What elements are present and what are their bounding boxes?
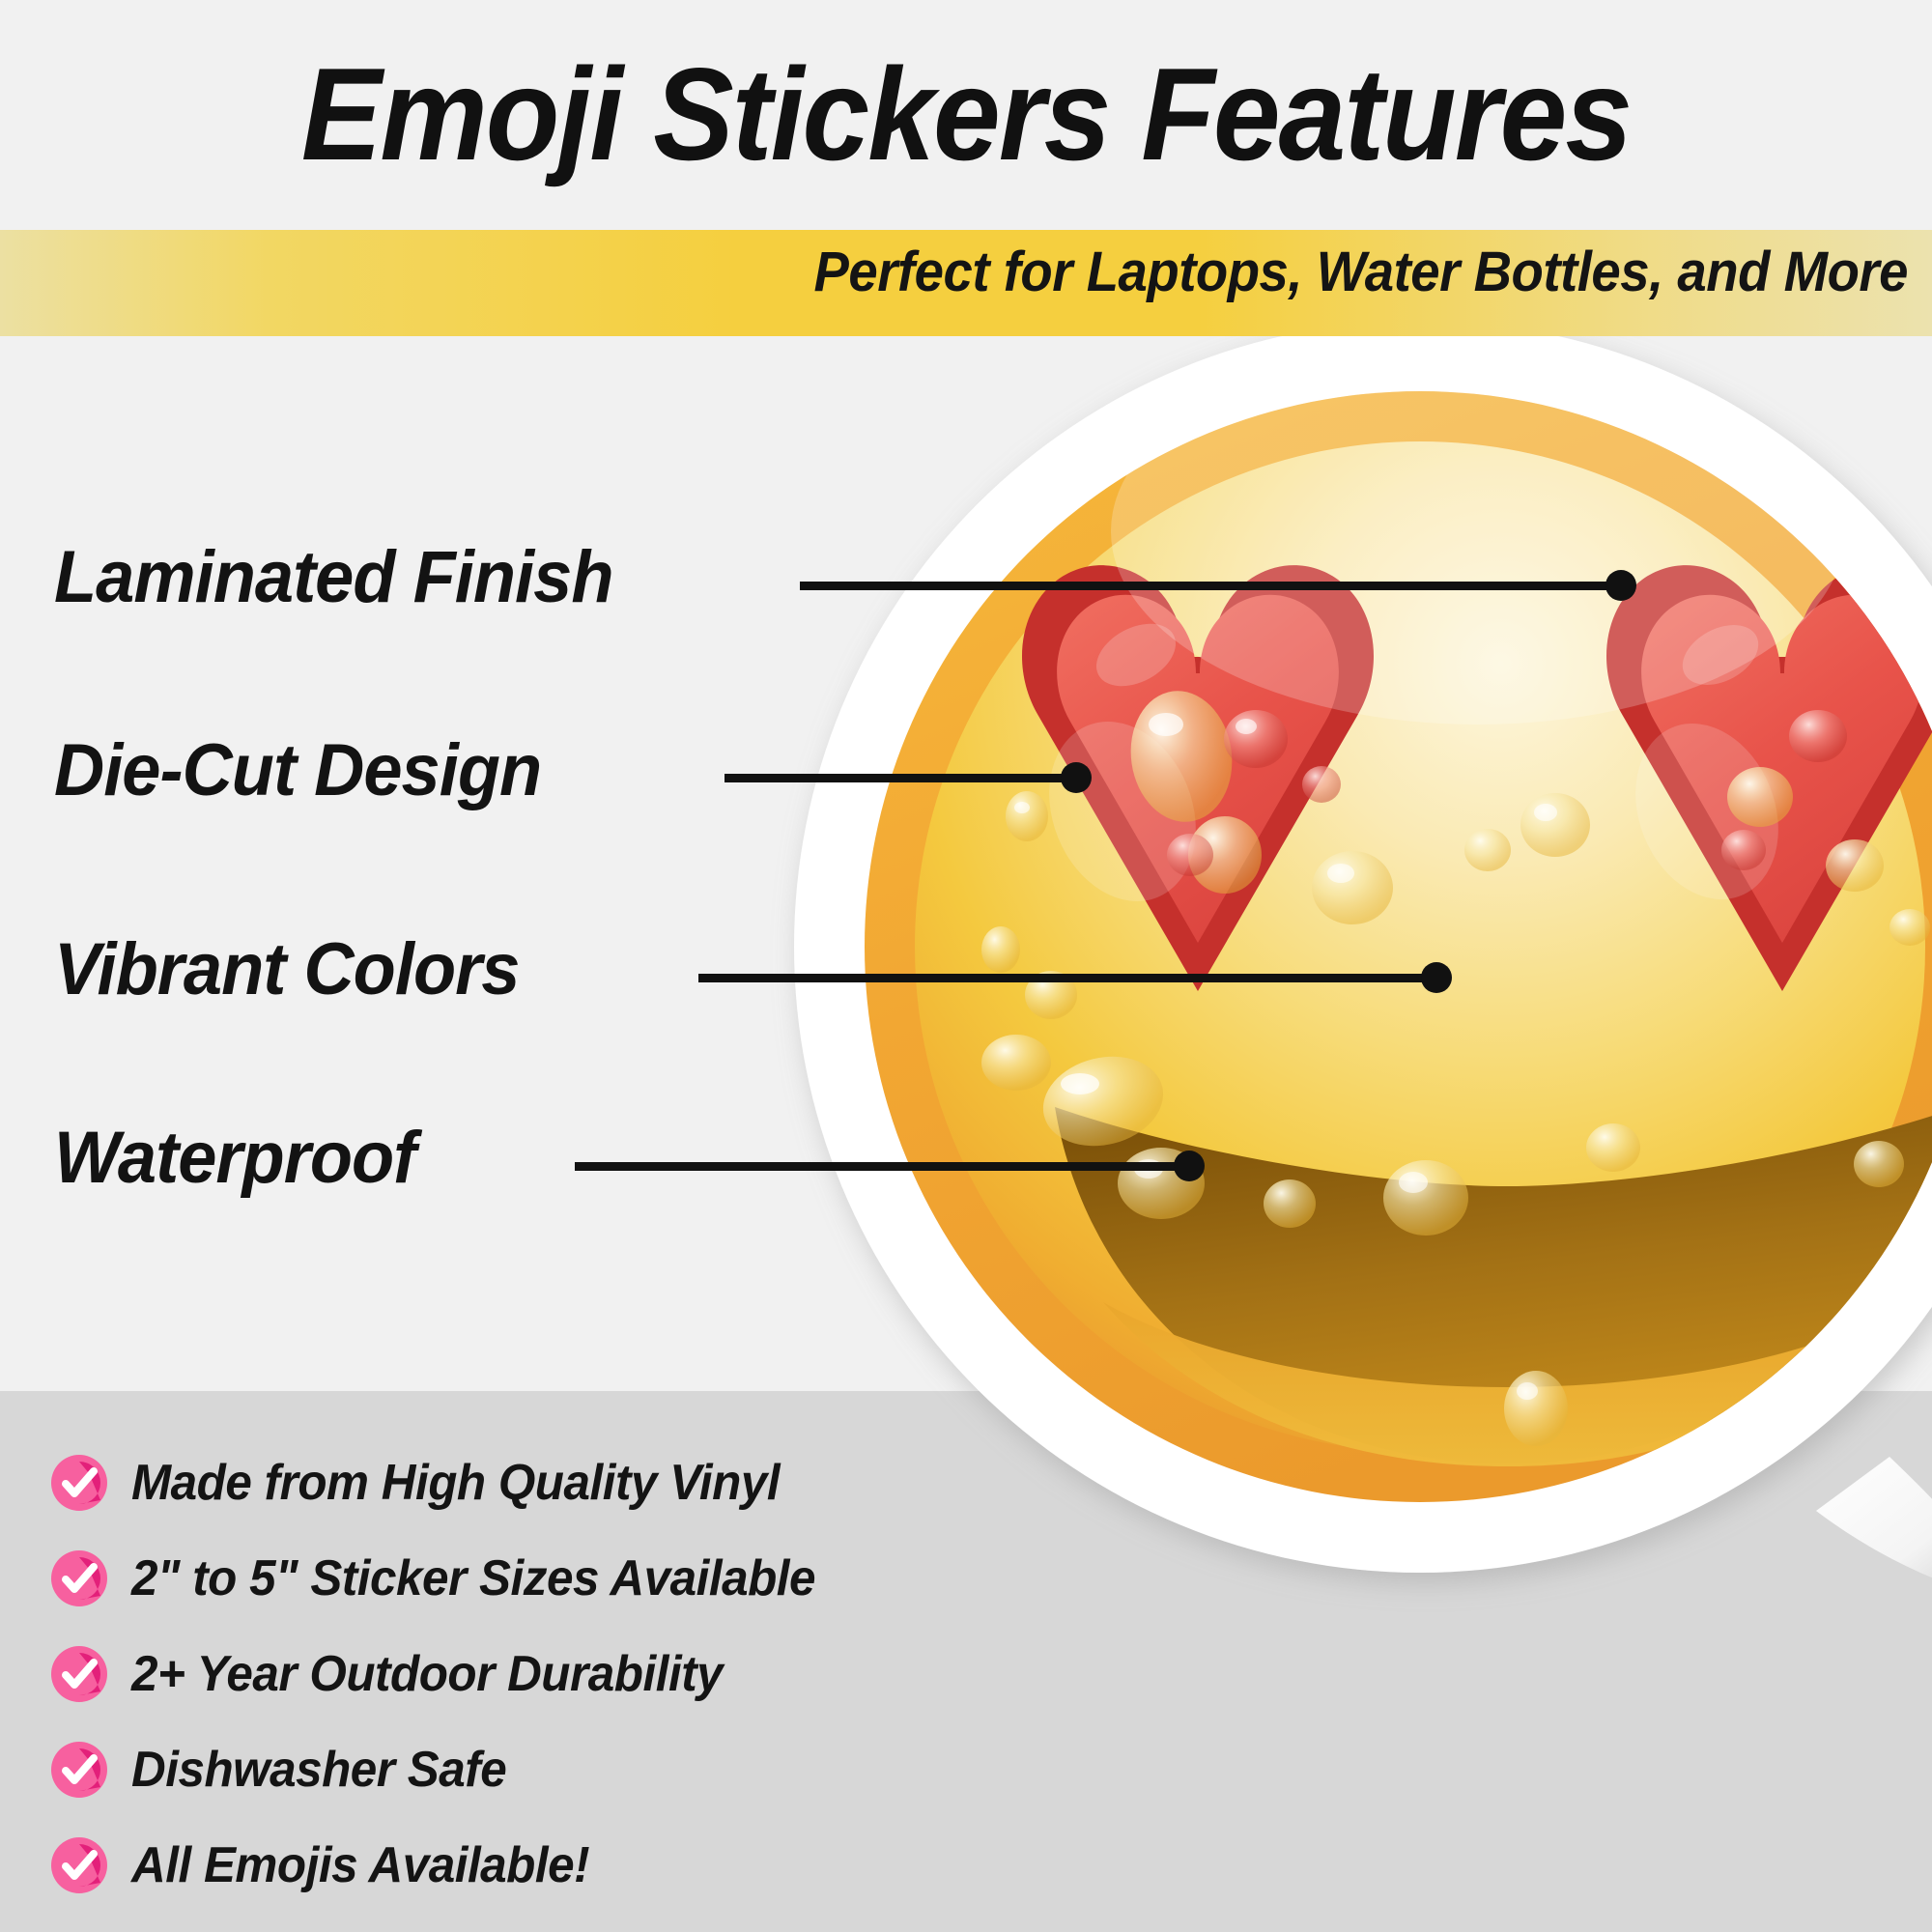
- checklist-label: Dishwasher Safe: [131, 1745, 506, 1795]
- callout-label-die-cut-design: Die-Cut Design: [54, 734, 541, 808]
- check-circle-icon: [50, 1741, 108, 1799]
- leader-dot-vibrant-colors: [1421, 962, 1452, 993]
- check-circle-icon: [50, 1549, 108, 1607]
- list-item: All Emojis Available!: [50, 1836, 613, 1894]
- leader-dot-laminated-finish: [1605, 570, 1636, 601]
- leader-dot-waterproof: [1174, 1151, 1205, 1181]
- leader-line-waterproof: [575, 1162, 1191, 1171]
- list-item: 2" to 5" Sticker Sizes Available: [50, 1549, 851, 1607]
- list-item: Made from High Quality Vinyl: [50, 1454, 813, 1512]
- emoji-stickers-features-infographic: Emoji Stickers Features Perfect for Lapt…: [0, 0, 1932, 1932]
- leader-line-die-cut-design: [724, 774, 1078, 782]
- checklist-label: All Emojis Available!: [131, 1840, 589, 1890]
- list-item: 2+ Year Outdoor Durability: [50, 1645, 753, 1703]
- leader-line-laminated-finish: [800, 582, 1623, 590]
- callout-label-vibrant-colors: Vibrant Colors: [54, 933, 519, 1007]
- checklist-label: 2" to 5" Sticker Sizes Available: [131, 1553, 815, 1604]
- checklist-label: 2+ Year Outdoor Durability: [131, 1649, 723, 1699]
- check-circle-icon: [50, 1836, 108, 1894]
- check-circle-icon: [50, 1645, 108, 1703]
- page-subtitle: Perfect for Laptops, Water Bottles, and …: [115, 240, 1909, 304]
- leader-dot-die-cut-design: [1061, 762, 1092, 793]
- leader-line-vibrant-colors: [698, 974, 1438, 982]
- check-circle-icon: [50, 1454, 108, 1512]
- callout-label-laminated-finish: Laminated Finish: [54, 541, 613, 614]
- page-title: Emoji Stickers Features: [77, 48, 1855, 180]
- checklist-label: Made from High Quality Vinyl: [131, 1458, 780, 1508]
- list-item: Dishwasher Safe: [50, 1741, 526, 1799]
- callout-label-waterproof: Waterproof: [54, 1122, 415, 1195]
